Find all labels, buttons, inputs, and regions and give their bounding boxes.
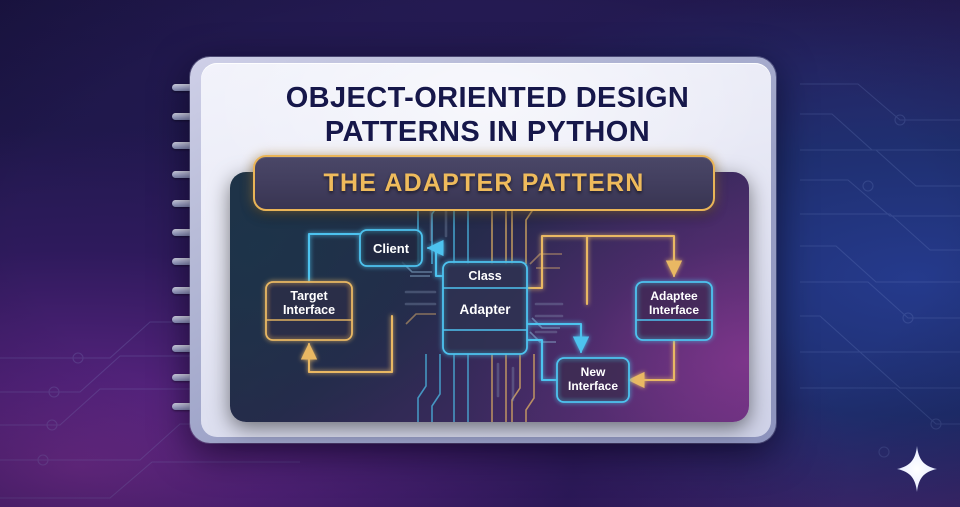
edge-adaptee-to-new-interface (629, 340, 674, 380)
node-new-interface[interactable]: New Interface (557, 358, 629, 402)
edge-adapter-to-new-interface (527, 324, 581, 352)
node-target-interface-label-line2: Interface (283, 303, 335, 317)
slide-canvas: OBJECT-ORIENTED DESIGN PATTERNS IN PYTHO… (0, 0, 960, 507)
adapter-pattern-diagram: Client Target Interface Class Adapter Ad… (230, 172, 749, 422)
page-title-line1: OBJECT-ORIENTED DESIGN (215, 82, 760, 116)
node-class-adapter[interactable]: Class Adapter (443, 262, 527, 354)
edge-adapter-top-to-adaptee (527, 236, 674, 288)
node-client-label: Client (373, 241, 410, 256)
node-new-interface-label-line2: Interface (568, 379, 618, 393)
edge-target-to-client (309, 234, 360, 282)
node-adaptee-interface-label-line1: Adaptee (650, 289, 698, 303)
node-adaptee-interface[interactable]: Adaptee Interface (636, 282, 712, 340)
node-target-interface-label-line1: Target (290, 289, 328, 303)
node-adaptee-interface-label-line2: Interface (649, 303, 699, 317)
node-class-adapter-label-class: Class (468, 269, 501, 283)
sparkle-icon (896, 446, 938, 492)
node-client[interactable]: Client (360, 230, 422, 266)
page-title: OBJECT-ORIENTED DESIGN PATTERNS IN PYTHO… (215, 82, 760, 149)
edge-new-interface-to-adapter (527, 340, 557, 380)
edge-adapter-to-client (428, 248, 443, 276)
node-target-interface[interactable]: Target Interface (266, 282, 352, 340)
page-title-line2: PATTERNS IN PYTHON (215, 116, 760, 150)
node-class-adapter-label-adapter: Adapter (459, 302, 511, 317)
node-new-interface-label-line1: New (581, 365, 606, 379)
